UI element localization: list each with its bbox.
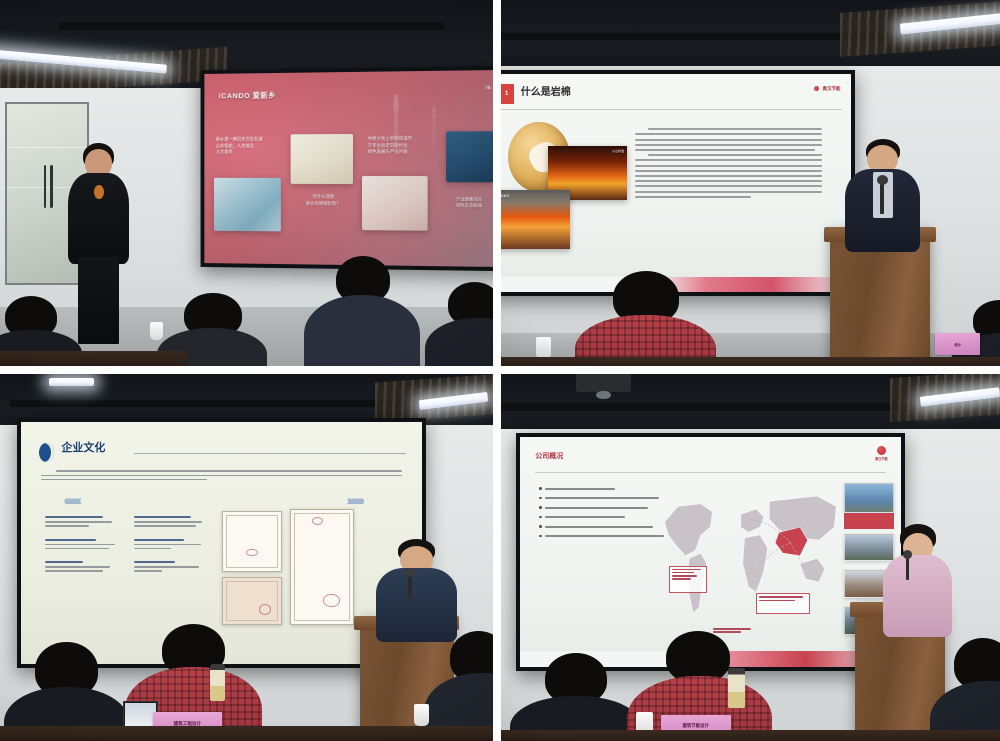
door-handle[interactable] xyxy=(44,165,47,208)
slide-card-map xyxy=(215,178,281,232)
bird-decoration: ❧ xyxy=(485,82,493,93)
certificate-seal-icon xyxy=(323,594,339,607)
facility-thumbnail xyxy=(844,483,894,513)
water-cup xyxy=(414,704,429,726)
scene-top-left: iCANDO 爱新乡 ❧ 新乡是一座历史文化名城 山水相依，人杰地灵 人文荟萃 … xyxy=(0,0,493,366)
slide-top-right: 1 什么是岩棉 奥汉节能 火山喷发 xyxy=(501,74,851,293)
speaker-bottom-right xyxy=(880,524,955,627)
certificate-seal-icon xyxy=(312,517,323,525)
speaker-top-left xyxy=(64,143,133,344)
certificate-image xyxy=(290,509,354,625)
bullet-item xyxy=(539,497,669,500)
microphone-head xyxy=(877,175,888,185)
audience-shoulder xyxy=(425,318,493,366)
scene-top-right: 1 什么是岩棉 奥汉节能 火山喷发 xyxy=(501,0,1000,366)
microphone-head xyxy=(405,569,416,578)
scene-bottom-left: 企业文化 《《《《《《《《 》》》》》》》》 xyxy=(0,374,493,741)
nameplate-text: 设计 xyxy=(954,341,961,346)
water-cup xyxy=(536,337,551,359)
bullet-text xyxy=(545,535,664,537)
slide-top-left: iCANDO 爱新乡 ❧ 新乡是一座历史文化名城 山水相依，人杰地灵 人文荟萃 … xyxy=(205,70,493,267)
image-caption: 岩浆熔流 xyxy=(501,194,509,198)
nameplate-desk-card: 设计 xyxy=(935,333,980,355)
map-callout xyxy=(756,593,809,614)
title-underline xyxy=(134,453,407,454)
bullet-item xyxy=(539,487,669,490)
logo-dot-icon xyxy=(814,86,819,91)
table-edge xyxy=(0,726,493,741)
nameplate-text: 建筑节能设计 xyxy=(682,723,708,729)
slide-card-illustration xyxy=(291,134,353,184)
table-edge xyxy=(501,357,1000,366)
bullet-item xyxy=(539,506,669,509)
logo-text: 奥汉节能 xyxy=(875,456,888,461)
world-map-svg xyxy=(657,483,848,626)
audience-member xyxy=(434,282,493,366)
bullet-text xyxy=(545,526,654,528)
chevrons-right: 》》》》》》》》 xyxy=(347,497,366,506)
speaker-bottom-left xyxy=(375,539,459,634)
audience-member xyxy=(521,653,631,741)
corporate-logo: 奥汉节能 xyxy=(814,86,840,92)
photo-panel-bottom-right[interactable]: 公司概况 奥汉节能 xyxy=(497,370,1000,741)
beverage-bottle xyxy=(728,668,745,708)
certificate-border xyxy=(294,513,350,621)
bullet-dot-icon xyxy=(539,487,542,490)
logo-dot-icon xyxy=(877,446,886,455)
world-map xyxy=(657,483,848,626)
certificate-border xyxy=(226,515,278,567)
slide-body-text xyxy=(635,128,823,201)
ceiling-beam xyxy=(59,22,444,30)
slide-title: 企业文化 xyxy=(61,439,105,455)
bullet-text xyxy=(545,507,649,509)
culture-column-2 xyxy=(134,516,206,574)
lava-photo: 岩浆熔流 xyxy=(501,190,570,249)
icando-logo: iCANDO 爱新乡 xyxy=(219,90,276,101)
title-underline xyxy=(501,109,842,110)
bullet-dot-icon xyxy=(539,525,542,528)
projection-screen: iCANDO 爱新乡 ❧ 新乡是一座历史文化名城 山水相依，人杰地灵 人文荟萃 … xyxy=(201,66,493,272)
culture-column-1 xyxy=(45,516,117,574)
screen-surface: iCANDO 爱新乡 ❧ 新乡是一座历史文化名城 山水相依，人杰地灵 人文荟萃 … xyxy=(205,70,493,267)
audience-member xyxy=(591,271,701,366)
projector-lens-icon xyxy=(596,391,611,400)
beverage-bottle xyxy=(210,664,226,701)
ceiling-projector xyxy=(576,374,631,392)
bullet-text xyxy=(545,516,625,518)
photo-panel-top-left[interactable]: iCANDO 爱新乡 ❧ 新乡是一座历史文化名城 山水相依，人杰地灵 人文荟萃 … xyxy=(0,0,497,370)
chevrons-left: 《《《《《《《《 xyxy=(61,497,80,506)
table-edge xyxy=(0,351,187,366)
bullet-list xyxy=(539,487,669,537)
certificate-image xyxy=(222,577,282,625)
speaker-top-right xyxy=(840,139,925,249)
ceiling-light xyxy=(49,378,93,387)
slide-card-anatomy xyxy=(362,176,428,231)
bullet-dot-icon xyxy=(539,506,542,509)
audience-shoulder xyxy=(304,295,420,366)
slide-text-block: 产业聚集效应 绿色生态新城 xyxy=(440,196,493,209)
bullet-dot-icon xyxy=(539,535,542,538)
water-cup xyxy=(150,322,163,340)
slide-intro-paragraph xyxy=(41,470,402,483)
bullet-text xyxy=(545,497,659,499)
tower-silhouette xyxy=(389,94,404,152)
corporate-logo: 奥汉节能 xyxy=(875,446,888,461)
certificate-image xyxy=(222,511,282,571)
audience-member xyxy=(940,638,1000,741)
bullet-item xyxy=(539,516,669,519)
bullet-text xyxy=(545,488,615,490)
photo-collage-grid: iCANDO 爱新乡 ❧ 新乡是一座历史文化名城 山水相依，人杰地灵 人文荟萃 … xyxy=(0,0,1000,741)
image-caption: 火山喷发 xyxy=(612,149,624,153)
slide-card-cover xyxy=(446,131,493,182)
photo-panel-bottom-left[interactable]: 企业文化 《《《《《《《《 》》》》》》》》 xyxy=(0,370,497,741)
bullet-item xyxy=(539,525,669,528)
photo-panel-top-right[interactable]: 1 什么是岩棉 奥汉节能 火山喷发 xyxy=(497,0,1000,370)
map-callout xyxy=(669,566,707,594)
slide-text-block: 为什么选择 新乡的地域优势？ xyxy=(294,193,353,207)
bullet-dot-icon xyxy=(539,497,542,500)
table-edge xyxy=(501,730,1000,741)
tower-silhouette xyxy=(428,106,440,149)
certificate-seal-icon xyxy=(259,604,271,614)
certificate-seal-icon xyxy=(246,549,258,557)
audience-member xyxy=(434,631,493,741)
laptop-screen xyxy=(125,703,156,728)
slide-title: 公司概况 xyxy=(535,451,563,461)
bullet-dot-icon xyxy=(539,516,542,519)
bullet-item xyxy=(539,535,669,538)
speaker-legs xyxy=(78,257,119,344)
projection-screen: 1 什么是岩棉 奥汉节能 火山喷发 xyxy=(501,70,855,297)
slide-number-badge: 1 xyxy=(501,84,514,104)
slide-text-block: 新乡是一座历史文化名城 山水相依，人杰地灵 人文荟萃 xyxy=(216,136,279,156)
slide-text-block: 中原大地上的明珠城市 千年古县走向现代化 绿色发展与产业升级 xyxy=(368,135,434,156)
slide-title: 什么是岩棉 xyxy=(521,83,571,98)
ceiling-beam xyxy=(10,400,434,407)
speaker-torso xyxy=(883,555,952,637)
door-handle[interactable] xyxy=(50,165,53,208)
culture-moon-icon xyxy=(39,443,53,462)
certificate-border xyxy=(226,581,278,621)
scene-bottom-right: 公司概况 奥汉节能 xyxy=(501,374,1000,741)
logo-text: 奥汉节能 xyxy=(822,86,840,92)
audience-member xyxy=(316,256,410,366)
screen-surface: 1 什么是岩棉 奥汉节能 火山喷发 xyxy=(501,74,851,293)
microphone-stick xyxy=(408,573,412,598)
microphone-stick xyxy=(880,181,884,214)
title-underline xyxy=(535,472,886,473)
